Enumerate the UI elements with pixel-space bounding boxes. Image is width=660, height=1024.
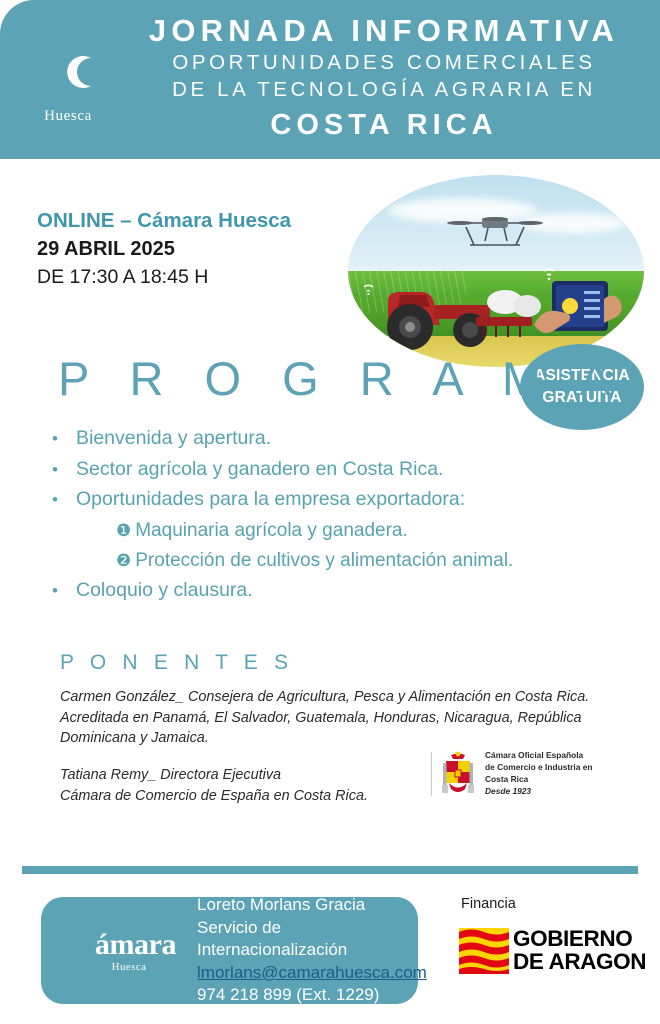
drone-icon bbox=[447, 217, 543, 245]
list-item-label: Bienvenida y apertura. bbox=[76, 429, 566, 449]
logo-divider bbox=[431, 752, 432, 796]
logo-subtitle: Huesca bbox=[112, 961, 147, 973]
speaker-line: Carmen González_ Consejera de Agricultur… bbox=[60, 687, 600, 708]
bullet-icon: • bbox=[46, 430, 76, 447]
event-details: ONLINE – Cámara Huesca 29 ABRIL 2025 DE … bbox=[37, 207, 367, 291]
contact-phone: 974 218 899 (Ext. 1229) bbox=[197, 984, 427, 1006]
sub-list-item: ❶ Maquinaria agrícola y ganadera. bbox=[116, 521, 566, 540]
aragon-wordmark: GOBIERNO DE ARAGON bbox=[513, 928, 646, 973]
header-title-block: JORNADA INFORMATIVA OPORTUNIDADES COMERC… bbox=[124, 14, 660, 145]
header-line-2: OPORTUNIDADES COMERCIALES bbox=[124, 49, 644, 76]
logo-text-line: Cámara Oficial Española bbox=[485, 750, 593, 762]
wifi-icon bbox=[364, 285, 373, 295]
sub-list-item: ❷ Protección de cultivos y alimentación … bbox=[116, 551, 566, 570]
bullet-icon: • bbox=[46, 582, 76, 599]
header-line-1: JORNADA INFORMATIVA bbox=[124, 14, 644, 49]
camara-espanola-costa-rica-logo: Cámara Oficial Española de Comercio e In… bbox=[378, 750, 593, 798]
red-cc-monogram-icon bbox=[378, 750, 424, 798]
logo-text-line: Costa Rica bbox=[485, 774, 593, 786]
contact-details: Loreto Morlans Gracia Servicio de Intern… bbox=[193, 894, 427, 1006]
aragon-flag-icon bbox=[459, 928, 509, 974]
logo-wordmark: ámara bbox=[95, 930, 176, 960]
list-item: • Coloquio y clausura. bbox=[46, 581, 566, 601]
agritech-photo bbox=[348, 175, 644, 367]
numbered-marker-1-icon: ❶ bbox=[116, 522, 131, 539]
list-item: • Sector agrícola y ganadero en Costa Ri… bbox=[46, 460, 566, 480]
speaker-line: Acreditada en Panamá, El Salvador, Guate… bbox=[60, 708, 600, 729]
contact-email-link[interactable]: lmorlans@camarahuesca.com bbox=[197, 962, 427, 984]
event-date: 29 ABRIL 2025 bbox=[37, 235, 367, 263]
list-item-label: Sector agrícola y ganadero en Costa Rica… bbox=[76, 460, 566, 480]
camara-espanola-logo-text: Cámara Oficial Española de Comercio e In… bbox=[485, 750, 593, 798]
wifi-icon bbox=[544, 269, 554, 280]
programa-list: • Bienvenida y apertura. • Sector agríco… bbox=[46, 429, 566, 611]
financia-label: Financia bbox=[461, 897, 646, 912]
logo-text-since: Desde 1923 bbox=[485, 786, 593, 798]
contact-card: ámara Huesca Loreto Morlans Gracia Servi… bbox=[41, 897, 418, 1004]
event-mode: ONLINE – Cámara Huesca bbox=[37, 207, 367, 235]
event-time: DE 17:30 A 18:45 H bbox=[37, 264, 367, 292]
list-item-label: Oportunidades para la empresa exportador… bbox=[76, 490, 566, 510]
list-item: • Bienvenida y apertura. bbox=[46, 429, 566, 449]
sub-list-item-label: Protección de cultivos y alimentación an… bbox=[135, 551, 513, 570]
cc-monogram-icon bbox=[68, 934, 94, 960]
logo-wordmark-row: ámara bbox=[68, 930, 176, 960]
poster-header: Huesca JORNADA INFORMATIVA OPORTUNIDADES… bbox=[0, 0, 660, 159]
photo-scene-elements bbox=[348, 175, 644, 367]
camara-huesca-logo: Huesca bbox=[12, 39, 124, 125]
aragon-line-2: DE ARAGON bbox=[513, 951, 646, 974]
footer-divider bbox=[22, 866, 638, 874]
list-item-label: Coloquio y clausura. bbox=[76, 581, 566, 601]
programa-heading: P R O G R A M A bbox=[58, 355, 625, 402]
header-line-4: COSTA RICA bbox=[124, 107, 644, 143]
numbered-marker-2-icon: ❷ bbox=[116, 552, 131, 569]
header-line-3: DE LA TECNOLOGÍA AGRARIA EN bbox=[124, 76, 644, 103]
gobierno-de-aragon-logo: GOBIERNO DE ARAGON bbox=[459, 928, 646, 974]
sprayer-tanks-icon bbox=[487, 290, 541, 317]
aragon-line-1: GOBIERNO bbox=[513, 928, 646, 951]
contact-department: Servicio de Internacionalización bbox=[197, 917, 427, 962]
cc-monogram-icon bbox=[35, 39, 101, 105]
sub-list-item-label: Maquinaria agrícola y ganadera. bbox=[135, 521, 408, 540]
bullet-icon: • bbox=[46, 461, 76, 478]
speaker-entry: Carmen González_ Consejera de Agricultur… bbox=[60, 687, 600, 749]
bullet-icon: • bbox=[46, 491, 76, 508]
logo-subtitle: Huesca bbox=[44, 108, 92, 125]
financia-block: Financia GOBIERNO DE ARAGON bbox=[459, 897, 646, 974]
spain-coat-of-arms-icon bbox=[439, 751, 477, 797]
contact-name: Loreto Morlans Gracia bbox=[197, 894, 427, 916]
ponentes-heading: P O N E N T E S bbox=[60, 652, 293, 673]
camara-huesca-footer-logo: ámara Huesca bbox=[51, 930, 193, 973]
list-item: • Oportunidades para la empresa exportad… bbox=[46, 490, 566, 510]
logo-text-line: de Comercio e Industria en bbox=[485, 762, 593, 774]
speaker-line: Dominicana y Jamaica. bbox=[60, 728, 600, 749]
